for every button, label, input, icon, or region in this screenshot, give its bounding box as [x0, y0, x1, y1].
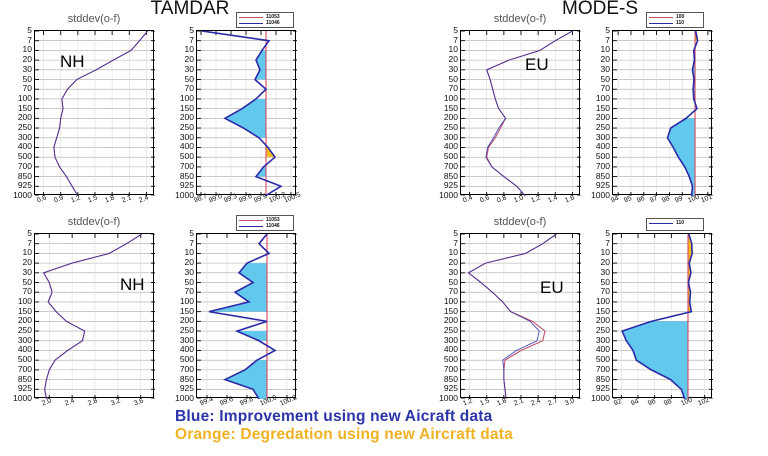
y-tick-label: 100 — [596, 94, 610, 102]
x-tick-label: 97 — [649, 195, 659, 204]
y-tick-label: 850 — [596, 375, 610, 383]
x-tick-label: 2.7 — [547, 397, 559, 407]
x-tick-label: 96 — [636, 195, 646, 204]
y-axis-labels-tamdar-nh-normalized-2: 5710203050701001502002503004005007008509… — [164, 233, 194, 398]
y-tick-label: 850 — [180, 172, 194, 180]
y-tick-label: 200 — [596, 113, 610, 121]
y-tick-label: 10 — [601, 248, 610, 256]
plot-area-tamdar-nh-normalized-2[interactable] — [196, 233, 296, 398]
plot-area-tamdar-nh-normalized[interactable] — [196, 30, 296, 195]
x-tick-label: 2.0 — [41, 397, 53, 407]
x-tick-label: 1.2 — [530, 194, 542, 204]
y-axis-labels-modes-eu-normalized-2: 5710203050701001502002503004005007008509… — [580, 233, 610, 398]
y-tick-label: 700 — [180, 162, 194, 170]
y-tick-label: 925 — [18, 384, 32, 392]
caption-orange: Orange: Degredation using new Aircraft d… — [175, 426, 513, 444]
fill-orange — [266, 41, 281, 187]
legend-label: 11046 — [266, 223, 280, 229]
y-tick-label: 7 — [453, 239, 458, 247]
y-tick-label: 5 — [189, 229, 194, 237]
legend-item: 110 — [649, 20, 701, 26]
y-tick-label: 100 — [596, 297, 610, 305]
y-tick-label: 7 — [27, 36, 32, 44]
x-tick-label: 98 — [661, 195, 671, 204]
y-tick-label: 20 — [601, 258, 610, 266]
y-tick-label: 150 — [444, 307, 458, 315]
legend-label: 110 — [676, 20, 684, 26]
y-axis-labels-modes-eu-normalized: 5710203050701001502002503004005007008509… — [580, 30, 610, 195]
y-tick-label: 200 — [180, 316, 194, 324]
legend-swatch-icon — [649, 23, 673, 24]
legend-label: 110 — [676, 220, 684, 226]
y-tick-label: 30 — [601, 65, 610, 73]
plot-area-modes-eu-normalized-2[interactable] — [612, 233, 712, 398]
y-tick-label: 50 — [185, 75, 194, 83]
y-tick-label: 250 — [444, 326, 458, 334]
y-tick-label: 20 — [185, 258, 194, 266]
y-tick-label: 250 — [596, 326, 610, 334]
y-tick-label: 30 — [23, 65, 32, 73]
y-tick-label: 5 — [453, 229, 458, 237]
panel-header-modes-eu-stddev: stddev(o-f) — [446, 13, 594, 25]
y-tick-label: 7 — [189, 36, 194, 44]
region-label-nh: NH — [60, 52, 85, 72]
y-axis-labels-tamdar-nh-stddev-2: 5710203050701001502002503004005007008509… — [2, 233, 32, 398]
y-tick-label: 30 — [449, 268, 458, 276]
y-tick-label: 100 — [18, 297, 32, 305]
y-tick-label: 250 — [444, 123, 458, 131]
y-tick-label: 925 — [596, 384, 610, 392]
y-tick-label: 30 — [185, 268, 194, 276]
y-tick-label: 10 — [185, 248, 194, 256]
y-tick-label: 70 — [449, 287, 458, 295]
y-tick-label: 150 — [180, 104, 194, 112]
y-tick-label: 1000 — [13, 191, 32, 199]
y-tick-label: 300 — [180, 133, 194, 141]
y-tick-label: 5 — [27, 26, 32, 34]
y-tick-label: 850 — [18, 375, 32, 383]
y-tick-label: 500 — [18, 355, 32, 363]
y-tick-label: 400 — [180, 345, 194, 353]
y-tick-label: 925 — [444, 384, 458, 392]
y-tick-label: 925 — [180, 181, 194, 189]
fill-blue — [667, 50, 695, 196]
y-tick-label: 10 — [23, 45, 32, 53]
x-tick-label: 2.4 — [530, 397, 542, 407]
x-tick-label: 92 — [613, 398, 623, 407]
y-tick-label: 250 — [18, 123, 32, 131]
y-tick-label: 850 — [180, 375, 194, 383]
y-tick-label: 850 — [596, 172, 610, 180]
legend-modes-eu-normalized[interactable]: 100110 — [646, 12, 704, 28]
y-tick-label: 30 — [185, 65, 194, 73]
legend-swatch-icon — [239, 220, 263, 221]
region-label-eu: EU — [540, 278, 564, 298]
y-tick-label: 50 — [601, 278, 610, 286]
y-tick-label: 250 — [596, 123, 610, 131]
y-tick-label: 70 — [23, 287, 32, 295]
y-tick-label: 300 — [18, 133, 32, 141]
series-line-11053 — [44, 234, 142, 399]
plot-area-modes-eu-stddev[interactable] — [460, 30, 580, 195]
y-tick-label: 500 — [444, 152, 458, 160]
plot-area-tamdar-nh-stddev[interactable] — [34, 30, 154, 195]
y-tick-label: 50 — [23, 75, 32, 83]
y-tick-label: 200 — [444, 316, 458, 324]
y-tick-label: 150 — [596, 307, 610, 315]
x-tick-label: 95 — [623, 195, 633, 204]
series-line-110 — [468, 234, 556, 399]
legend-swatch-icon — [239, 226, 263, 227]
y-tick-label: 200 — [18, 316, 32, 324]
y-tick-label: 250 — [180, 326, 194, 334]
y-tick-label: 150 — [444, 104, 458, 112]
x-tick-label: 96 — [647, 398, 657, 407]
y-tick-label: 100 — [444, 297, 458, 305]
legend-swatch-icon — [649, 223, 673, 224]
y-tick-label: 150 — [180, 307, 194, 315]
y-tick-label: 700 — [596, 162, 610, 170]
y-tick-label: 300 — [444, 336, 458, 344]
y-tick-label: 400 — [18, 345, 32, 353]
y-tick-label: 30 — [449, 65, 458, 73]
y-tick-label: 1000 — [175, 394, 194, 402]
y-tick-label: 7 — [605, 239, 610, 247]
y-tick-label: 200 — [18, 113, 32, 121]
x-tick-label: 1.6 — [564, 194, 576, 204]
y-tick-label: 200 — [180, 113, 194, 121]
x-tick-label: 99 — [674, 195, 684, 204]
y-tick-label: 300 — [18, 336, 32, 344]
y-tick-label: 850 — [18, 172, 32, 180]
y-tick-label: 30 — [601, 268, 610, 276]
x-tick-label: 1.8 — [104, 194, 116, 204]
y-tick-label: 50 — [185, 278, 194, 286]
y-axis-labels-tamdar-nh-stddev: 5710203050701001502002503004005007008509… — [2, 30, 32, 195]
y-tick-label: 7 — [453, 36, 458, 44]
y-tick-label: 10 — [23, 248, 32, 256]
y-tick-label: 5 — [27, 229, 32, 237]
y-tick-label: 500 — [444, 355, 458, 363]
x-tick-label: 2.4 — [64, 397, 76, 407]
y-tick-label: 70 — [601, 84, 610, 92]
y-tick-label: 20 — [185, 55, 194, 63]
region-label-nh: NH — [120, 275, 145, 295]
y-tick-label: 850 — [444, 172, 458, 180]
y-tick-label: 1000 — [439, 191, 458, 199]
y-axis-labels-tamdar-nh-normalized: 5710203050701001502002503004005007008509… — [164, 30, 194, 195]
y-tick-label: 70 — [601, 287, 610, 295]
y-tick-label: 500 — [180, 152, 194, 160]
y-tick-label: 50 — [23, 278, 32, 286]
y-axis-labels-modes-eu-stddev-2: 5710203050701001502002503004005007008509… — [428, 233, 458, 398]
y-tick-label: 250 — [18, 326, 32, 334]
y-tick-label: 50 — [449, 75, 458, 83]
y-tick-label: 925 — [18, 181, 32, 189]
y-tick-label: 400 — [444, 142, 458, 150]
panel-header-tamdar-nh-stddev: stddev(o-f) — [20, 13, 168, 25]
y-tick-label: 20 — [449, 258, 458, 266]
x-tick-label: 94 — [610, 195, 620, 204]
legend-item: 110 — [649, 220, 701, 226]
y-tick-label: 70 — [23, 84, 32, 92]
y-tick-label: 500 — [180, 355, 194, 363]
plot-area-modes-eu-stddev-2[interactable] — [460, 233, 580, 398]
y-tick-label: 20 — [601, 55, 610, 63]
y-tick-label: 850 — [444, 375, 458, 383]
series-line-100 — [468, 234, 556, 399]
legend-tamdar-nh-normalized[interactable]: 1105311046 — [236, 12, 294, 28]
y-tick-label: 1000 — [591, 394, 610, 402]
plot-area-modes-eu-normalized[interactable] — [612, 30, 712, 195]
x-tick-label: 3.0 — [564, 397, 576, 407]
y-tick-label: 500 — [596, 152, 610, 160]
legend-swatch-icon — [239, 17, 263, 18]
y-tick-label: 925 — [180, 384, 194, 392]
y-tick-label: 400 — [444, 345, 458, 353]
legend-tamdar-nh-normalized-2[interactable]: 1105311046 — [236, 215, 294, 231]
y-tick-label: 200 — [596, 316, 610, 324]
y-tick-label: 400 — [18, 142, 32, 150]
y-tick-label: 5 — [453, 26, 458, 34]
y-tick-label: 10 — [601, 45, 610, 53]
x-tick-label: 2.1 — [121, 194, 133, 204]
y-tick-label: 925 — [596, 181, 610, 189]
y-tick-label: 50 — [449, 278, 458, 286]
y-tick-label: 150 — [596, 104, 610, 112]
y-tick-label: 1000 — [591, 191, 610, 199]
y-tick-label: 700 — [180, 365, 194, 373]
y-tick-label: 5 — [605, 229, 610, 237]
y-tick-label: 150 — [18, 307, 32, 315]
panel-header-tamdar-nh-stddev-2: stddev(o-f) — [20, 216, 168, 228]
y-tick-label: 20 — [23, 55, 32, 63]
y-tick-label: 5 — [189, 26, 194, 34]
y-tick-label: 10 — [449, 45, 458, 53]
y-tick-label: 7 — [27, 239, 32, 247]
y-tick-label: 400 — [596, 142, 610, 150]
y-tick-label: 7 — [605, 36, 610, 44]
legend-modes-eu-normalized-2[interactable]: 110 — [646, 218, 704, 231]
legend-item: 11046 — [239, 20, 291, 26]
legend-item: 11046 — [239, 223, 291, 229]
plot-area-tamdar-nh-stddev-2[interactable] — [34, 233, 154, 398]
y-tick-label: 300 — [180, 336, 194, 344]
y-tick-label: 70 — [185, 287, 194, 295]
y-tick-label: 5 — [605, 26, 610, 34]
y-tick-label: 700 — [18, 162, 32, 170]
y-tick-label: 500 — [18, 152, 32, 160]
panel-header-modes-eu-stddev-2: stddev(o-f) — [446, 216, 594, 228]
caption-blue: Blue: Improvement using new Aicraft data — [175, 408, 513, 426]
y-tick-label: 700 — [444, 162, 458, 170]
y-tick-label: 10 — [449, 248, 458, 256]
y-tick-label: 1000 — [439, 394, 458, 402]
y-tick-label: 400 — [180, 142, 194, 150]
y-tick-label: 200 — [444, 113, 458, 121]
y-tick-label: 1000 — [13, 394, 32, 402]
caption-block: Blue: Improvement using new Aicraft data… — [175, 408, 513, 444]
y-tick-label: 300 — [444, 133, 458, 141]
y-tick-label: 7 — [189, 239, 194, 247]
legend-label: 11046 — [266, 20, 280, 26]
series-line-11046 — [44, 234, 142, 399]
y-tick-label: 925 — [444, 181, 458, 189]
y-tick-label: 20 — [23, 258, 32, 266]
y-tick-label: 1000 — [175, 191, 194, 199]
x-tick-label: 94 — [630, 398, 640, 407]
y-axis-labels-modes-eu-stddev: 5710203050701001502002503004005007008509… — [428, 30, 458, 195]
y-tick-label: 70 — [185, 84, 194, 92]
y-tick-label: 100 — [18, 94, 32, 102]
region-label-eu: EU — [525, 55, 549, 75]
y-tick-label: 150 — [18, 104, 32, 112]
x-tick-label: 1.4 — [547, 194, 559, 204]
y-tick-label: 700 — [18, 365, 32, 373]
y-tick-label: 500 — [596, 355, 610, 363]
y-tick-label: 100 — [180, 94, 194, 102]
legend-swatch-icon — [239, 23, 263, 24]
y-tick-label: 50 — [601, 75, 610, 83]
y-tick-label: 700 — [596, 365, 610, 373]
y-tick-label: 250 — [180, 123, 194, 131]
figure-root: TAMDAR MODE-S stddev(o-f)571020305070100… — [0, 0, 768, 456]
y-tick-label: 100 — [444, 94, 458, 102]
y-tick-label: 300 — [596, 336, 610, 344]
y-tick-label: 20 — [449, 55, 458, 63]
y-tick-label: 30 — [23, 268, 32, 276]
y-tick-label: 700 — [444, 365, 458, 373]
y-tick-label: 400 — [596, 345, 610, 353]
y-tick-label: 10 — [185, 45, 194, 53]
x-tick-label: 2.4 — [138, 194, 150, 204]
legend-swatch-icon — [649, 17, 673, 18]
y-tick-label: 100 — [180, 297, 194, 305]
y-tick-label: 70 — [449, 84, 458, 92]
y-tick-label: 300 — [596, 133, 610, 141]
x-tick-label: 98 — [663, 398, 673, 407]
